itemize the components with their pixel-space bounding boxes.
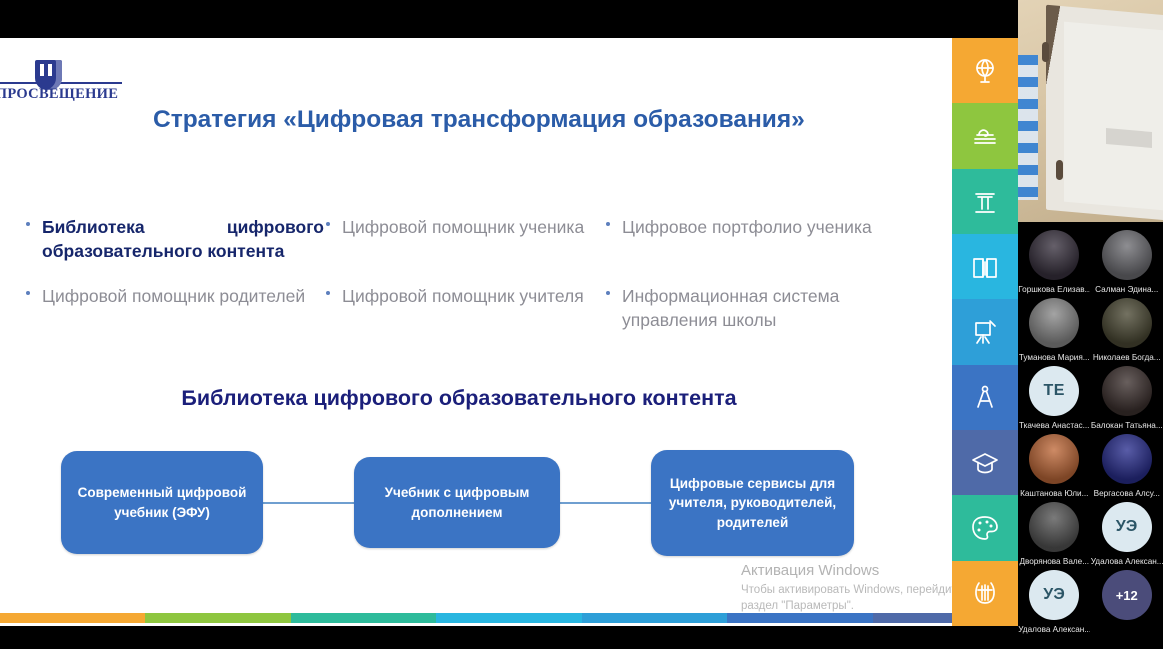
participant-tile[interactable]: Вергасова Алсу... [1091, 430, 1163, 498]
participant-name: Удалова Алексан... [1018, 625, 1090, 634]
bullet-text: Информационная система управления школы [622, 285, 924, 332]
avatar-initials: УЭ [1116, 518, 1138, 536]
participant-name: Дворянова Вале... [1019, 557, 1089, 566]
list-item: Цифровой помощник учителя [324, 285, 604, 332]
flow-node: Учебник с цифровым дополнением [354, 457, 560, 548]
flow-node: Цифровые сервисы для учителя, руководите… [651, 450, 854, 556]
avatar [1102, 230, 1152, 280]
overflow-participants-tile[interactable]: +12 [1091, 566, 1163, 634]
participant-tile[interactable]: УЭУдалова Алексан... [1091, 498, 1163, 566]
avatar [1102, 298, 1152, 348]
board-handle-icon [1042, 42, 1049, 62]
participant-tile[interactable]: Туманова Мария... [1018, 294, 1091, 362]
bullet-grid: Библиотека цифрового образовательного ко… [24, 216, 924, 333]
bullet-dot-icon [606, 291, 610, 295]
board-handle-icon [1056, 160, 1063, 180]
participant-grid: Горшкова Елизав...Салман Эдина...Туманов… [1018, 226, 1163, 634]
stacked-books-icon [970, 121, 1000, 151]
bullet-dot-icon [26, 222, 30, 226]
flow-node: Современный цифровой учебник (ЭФУ) [61, 451, 263, 554]
bullet-text: Цифровое портфолио ученика [622, 216, 924, 240]
list-item: Цифровой помощник родителей [24, 285, 324, 332]
list-item: Информационная система управления школы [604, 285, 924, 332]
participant-tile[interactable]: ТЕТкачева Анастас... [1018, 362, 1091, 430]
avatar [1029, 298, 1079, 348]
lyre-icon [970, 578, 1000, 608]
avatar [1029, 502, 1079, 552]
avatar [1029, 434, 1079, 484]
bullet-dot-icon [606, 222, 610, 226]
category-item-paint-palette[interactable] [952, 495, 1018, 560]
list-item: Цифровой помощник ученика [324, 216, 604, 263]
category-item-easel[interactable] [952, 299, 1018, 364]
list-item: Цифровое портфолио ученика [604, 216, 924, 263]
color-strip-segment [727, 613, 872, 623]
publisher-shield-logo: ПРОСВЕЩЕНИЕ [0, 60, 122, 108]
self-view-video[interactable] [1018, 0, 1163, 222]
bullet-text: Цифровой помощник ученика [342, 216, 604, 240]
participant-name: Горшкова Елизав... [1018, 285, 1090, 294]
meeting-screen: ПРОСВЕЩЕНИЕ Стратегия «Цифровая трансфор… [0, 0, 1163, 649]
participant-name: Удалова Алексан... [1091, 557, 1163, 566]
bullet-dot-icon [326, 291, 330, 295]
participant-tile[interactable]: Балокан Татьяна... [1091, 362, 1163, 430]
participant-row: Горшкова Елизав...Салман Эдина... [1018, 226, 1163, 294]
bullet-text: Цифровой помощник учителя [342, 285, 604, 309]
bullet-text: Библиотека цифрового образовательного ко… [42, 216, 324, 263]
participant-row: Каштанова Юли...Вергасова Алсу... [1018, 430, 1163, 498]
avatar [1029, 230, 1079, 280]
easel-icon [970, 317, 1000, 347]
bullet-row: Цифровой помощник родителей Цифровой пом… [24, 285, 924, 332]
column-pillar-icon [970, 186, 1000, 216]
category-item-compass-divider[interactable] [952, 365, 1018, 430]
presentation-slide[interactable]: ПРОСВЕЩЕНИЕ Стратегия «Цифровая трансфор… [0, 38, 1018, 626]
category-item-globe[interactable] [952, 38, 1018, 103]
color-strip-segment [291, 613, 436, 623]
participant-tile[interactable]: УЭУдалова Алексан... [1018, 566, 1091, 634]
participant-name: Каштанова Юли... [1020, 489, 1088, 498]
participant-row: Дворянова Вале...УЭУдалова Алексан... [1018, 498, 1163, 566]
color-strip-segment [436, 613, 581, 623]
avatar [1102, 366, 1152, 416]
participant-name: Вергасова Алсу... [1094, 489, 1160, 498]
color-strip-segment [145, 613, 290, 623]
color-strip-segment [0, 613, 145, 623]
participant-name: Николаев Богда... [1093, 353, 1161, 362]
bullet-text: Цифровой помощник родителей [42, 285, 324, 309]
category-item-open-book[interactable] [952, 234, 1018, 299]
category-item-column-pillar[interactable] [952, 169, 1018, 234]
avatar [1102, 434, 1152, 484]
avatar-initials: УЭ [1043, 586, 1065, 604]
participant-tile[interactable]: Горшкова Елизав... [1018, 226, 1091, 294]
paint-palette-icon [970, 513, 1000, 543]
participant-row: Туманова Мария...Николаев Богда... [1018, 294, 1163, 362]
avatar: УЭ [1029, 570, 1079, 620]
graduation-cap-icon [970, 448, 1000, 478]
category-sidebar[interactable] [952, 38, 1018, 626]
participant-tile[interactable]: Салман Эдина... [1091, 226, 1163, 294]
participant-tile[interactable]: Каштанова Юли... [1018, 430, 1091, 498]
participant-name: Балокан Татьяна... [1091, 421, 1163, 430]
participant-name: Салман Эдина... [1095, 285, 1158, 294]
whiteboard-surface [1064, 22, 1163, 211]
participant-tile[interactable]: Николаев Богда... [1091, 294, 1163, 362]
category-item-graduation-cap[interactable] [952, 430, 1018, 495]
logo-wordmark: ПРОСВЕЩЕНИЕ [0, 86, 122, 103]
section-heading: Библиотека цифрового образовательного ко… [0, 386, 918, 411]
participant-name: Туманова Мария... [1019, 353, 1090, 362]
category-item-lyre[interactable] [952, 561, 1018, 626]
participant-tile[interactable]: Дворянова Вале... [1018, 498, 1091, 566]
color-strip-segment [582, 613, 727, 623]
category-item-stacked-books[interactable] [952, 103, 1018, 168]
bullet-row: Библиотека цифрового образовательного ко… [24, 216, 924, 263]
video-participants-panel[interactable]: Горшкова Елизав...Салман Эдина...Туманов… [1018, 0, 1163, 649]
page-title: Стратегия «Цифровая трансформация образо… [153, 106, 805, 134]
compass-divider-icon [970, 382, 1000, 412]
flow-connector [263, 502, 354, 504]
overflow-badge: +12 [1102, 570, 1152, 620]
flow-connector [560, 502, 651, 504]
participant-row: ТЕТкачева Анастас...Балокан Татьяна... [1018, 362, 1163, 430]
flow-diagram: Современный цифровой учебник (ЭФУ) Учебн… [0, 438, 918, 568]
participant-name: Ткачева Анастас... [1019, 421, 1089, 430]
bullet-dot-icon [26, 291, 30, 295]
wall-poster [1018, 55, 1038, 200]
open-book-icon [970, 252, 1000, 282]
color-strip [0, 613, 1018, 623]
globe-icon [970, 56, 1000, 86]
participant-row: УЭУдалова Алексан...+12 [1018, 566, 1163, 634]
avatar-initials: ТЕ [1044, 382, 1065, 400]
avatar: ТЕ [1029, 366, 1079, 416]
avatar: УЭ [1102, 502, 1152, 552]
list-item: Библиотека цифрового образовательного ко… [24, 216, 324, 263]
bullet-dot-icon [326, 222, 330, 226]
shared-screen-area[interactable]: ПРОСВЕЩЕНИЕ Стратегия «Цифровая трансфор… [0, 0, 1018, 649]
